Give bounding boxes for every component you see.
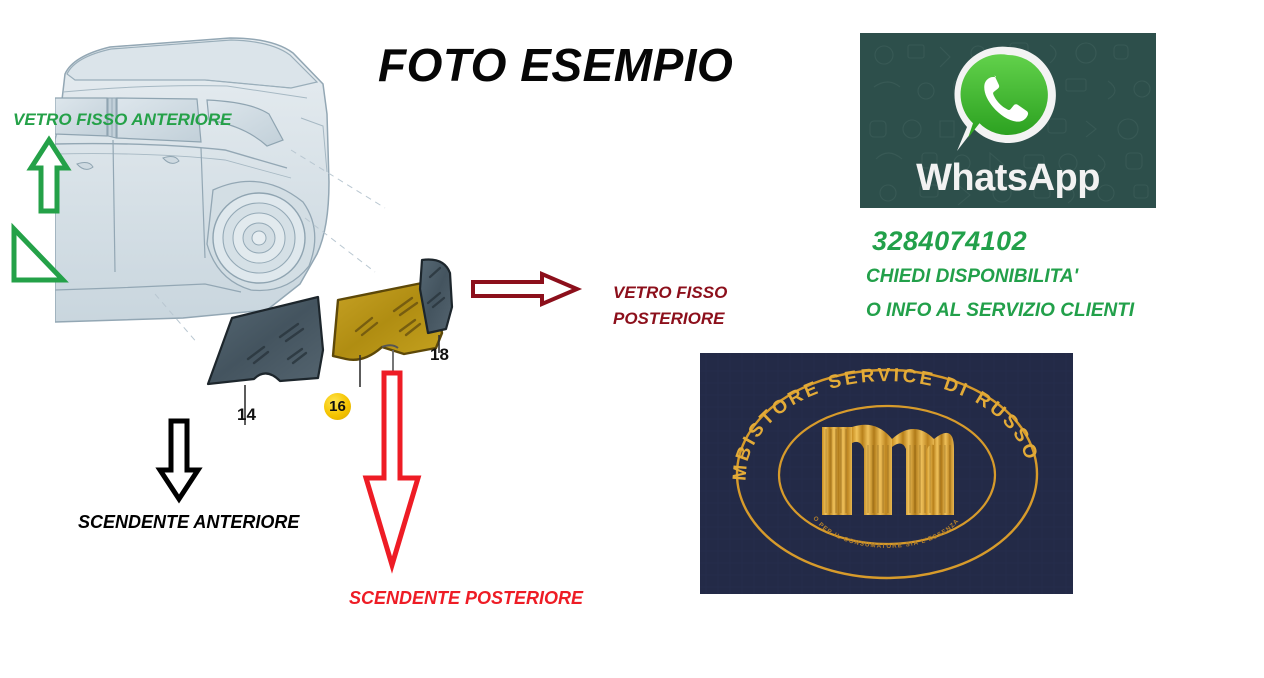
part-number-14: 14 [237, 405, 256, 425]
down-arrow-icon [155, 418, 203, 503]
poster-canvas: FOTO ESEMPIO VETRO FISSO ANTERIORE [0, 0, 1264, 678]
label-vetro-fisso-posteriore-line2: POSTERIORE [613, 309, 724, 328]
label-vetro-fisso-anteriore: VETRO FISSO ANTERIORE [13, 110, 232, 129]
label-vetro-fisso-posteriore-line1: VETRO FISSO [613, 283, 727, 302]
label-scendente-anteriore: SCENDENTE ANTERIORE [78, 512, 299, 532]
whatsapp-cta-line2: O INFO AL SERVIZIO CLIENTI [866, 300, 1134, 322]
whatsapp-phone-number: 3284074102 [872, 226, 1027, 257]
page-title: FOTO ESEMPIO [378, 38, 733, 92]
right-arrow-icon [470, 271, 580, 307]
right-triangle-icon [10, 225, 66, 285]
label-scendente-posteriore: SCENDENTE POSTERIORE [349, 588, 583, 608]
brand-logo-panel: MRICAMBISTORE SERVICE DI RUSSO MARCO IL … [700, 353, 1073, 594]
whatsapp-cta-line1: CHIEDI DISPONIBILITA' [866, 266, 1078, 288]
whatsapp-icon [947, 41, 1069, 164]
part-number-16-badge: 16 [324, 393, 351, 420]
long-down-arrow-icon [356, 370, 428, 570]
whatsapp-wordmark: WhatsApp [860, 157, 1156, 200]
whatsapp-banner: WhatsApp [860, 33, 1156, 208]
logo-monogram [822, 425, 954, 515]
part-number-18: 18 [430, 345, 449, 365]
up-arrow-icon [28, 137, 70, 215]
